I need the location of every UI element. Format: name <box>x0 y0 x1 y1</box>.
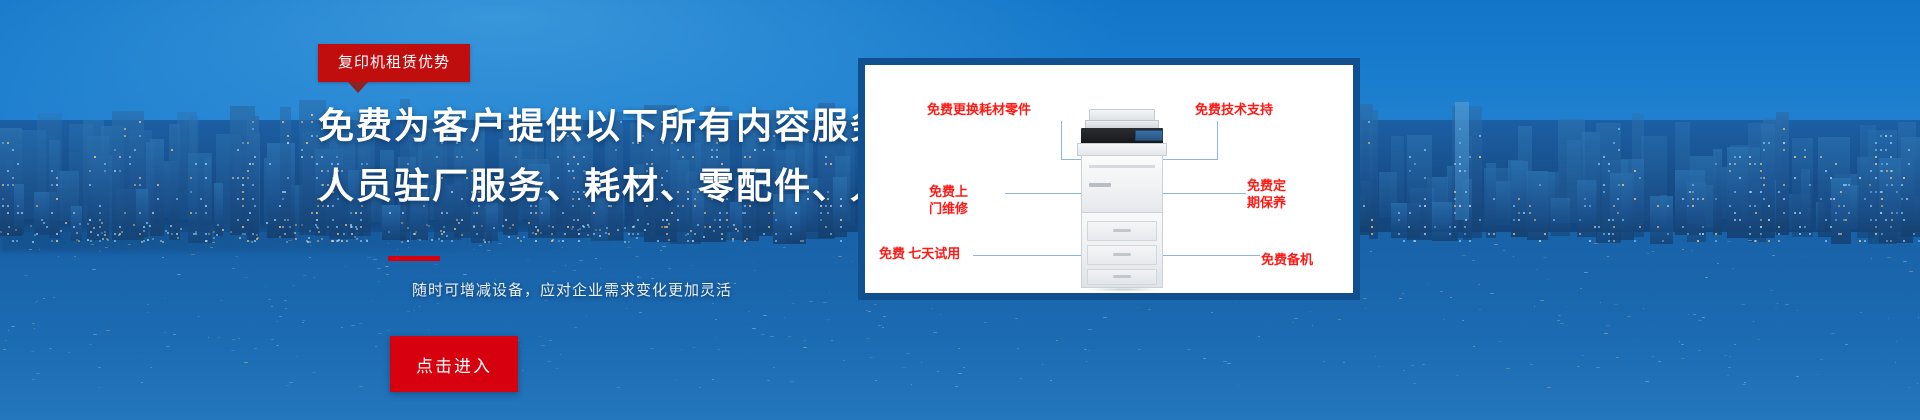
features-panel: 免费更换耗材零件 免费上 门维修 免费 七天试用 免费技术支持 免费定 期保养 … <box>858 58 1360 300</box>
badge-pointer-icon <box>348 82 368 93</box>
feature-label-regular-maintenance-line1: 免费定 <box>1247 177 1286 194</box>
connector-line <box>1190 255 1260 256</box>
page-title: 免费为客户提供以下所有内容服务： 人员驻厂服务、耗材、零配件、人工费 <box>318 96 878 216</box>
feature-label-seven-day-trial: 免费 七天试用 <box>879 245 960 262</box>
badge-label: 复印机租赁优势 <box>318 44 470 82</box>
subtitle: 随时可增减设备，应对企业需求变化更加灵活 <box>412 279 732 300</box>
feature-label-onsite-repair: 免费上 门维修 <box>929 183 968 217</box>
connector-line <box>1061 121 1062 159</box>
feature-label-regular-maintenance: 免费定 期保养 <box>1247 177 1286 211</box>
connector-line <box>1190 193 1246 194</box>
feature-label-tech-support: 免费技术支持 <box>1195 101 1273 118</box>
left-content: 复印机租赁优势 免费为客户提供以下所有内容服务： 人员驻厂服务、耗材、零配件、人… <box>0 0 900 420</box>
copier-icon <box>1075 109 1171 291</box>
feature-label-onsite-repair-line2: 门维修 <box>929 200 968 217</box>
connector-line <box>1190 159 1218 160</box>
feature-label-free-consumables: 免费更换耗材零件 <box>927 101 1031 118</box>
enter-button[interactable]: 点击进入 <box>390 336 518 392</box>
headline-line-2: 人员驻厂服务、耗材、零配件、人工费 <box>318 156 878 216</box>
feature-label-regular-maintenance-line2: 期保养 <box>1247 194 1286 211</box>
accent-underline <box>388 256 440 261</box>
connector-line <box>1217 121 1218 159</box>
feature-label-onsite-repair-line1: 免费上 <box>929 183 968 200</box>
promo-banner: 复印机租赁优势 免费为客户提供以下所有内容服务： 人员驻厂服务、耗材、零配件、人… <box>0 0 1920 420</box>
headline-line-1: 免费为客户提供以下所有内容服务： <box>318 105 926 146</box>
feature-label-spare-machine: 免费备机 <box>1261 251 1313 268</box>
